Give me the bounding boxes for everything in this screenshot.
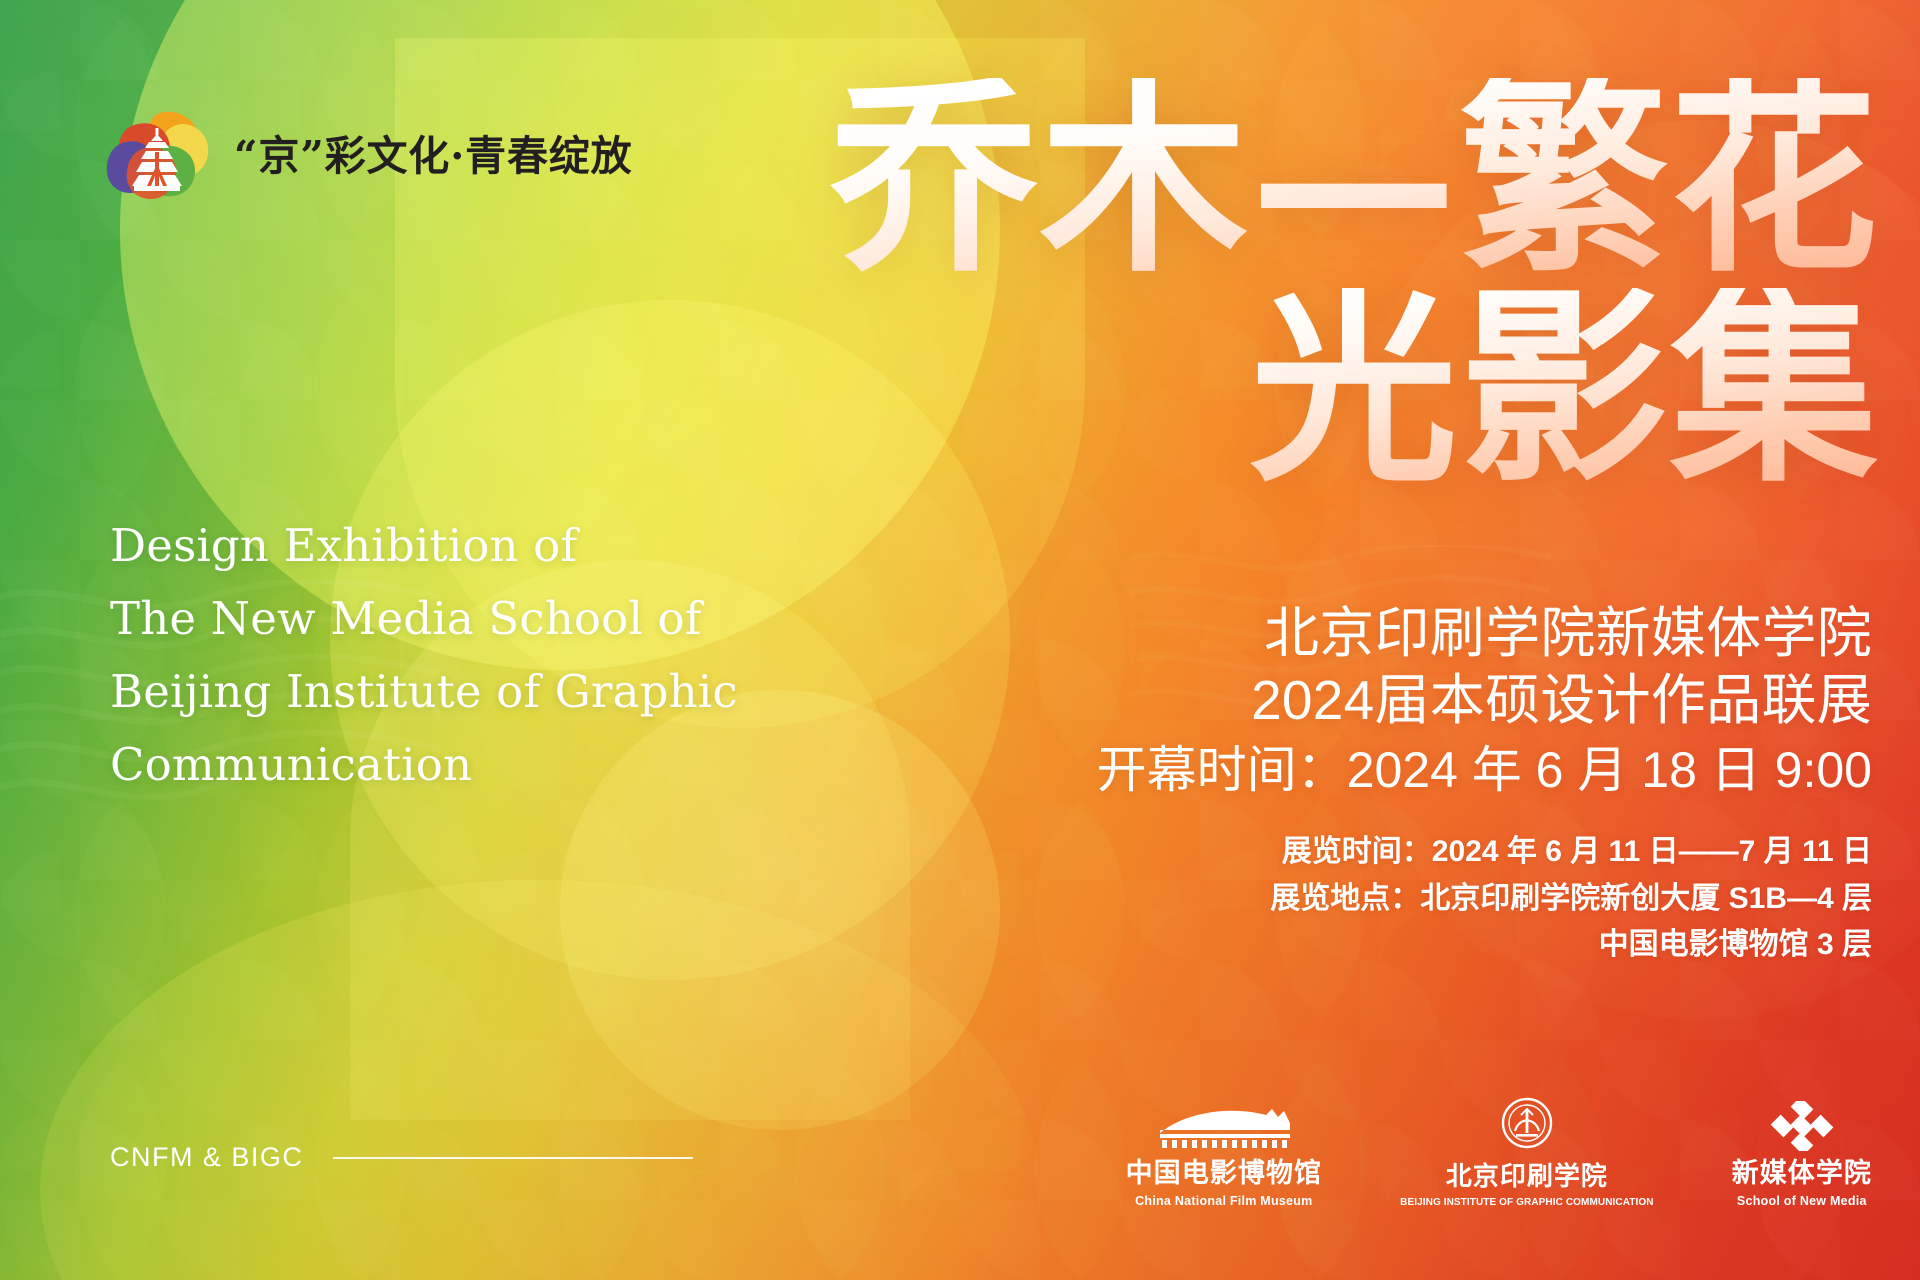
logo-snm-cn-label: 新媒体学院 [1732,1159,1872,1189]
logo-school-of-new-media: 新媒体学院 School of New Media [1732,1101,1872,1208]
logo-cnfm-en-label: China National Film Museum [1135,1194,1312,1208]
english-title-line-2: The New Media School of [110,583,738,656]
brand-slogan: “京”彩文化·青春绽放 [234,136,632,177]
logo-bigc-en-label: BEIJING INSTITUTE OF GRAPHIC COMMUNICATI… [1400,1197,1653,1208]
title-line-2: 光影集 [830,288,1880,492]
china-national-film-museum-icon [1154,1107,1294,1151]
partner-logos: 中国电影博物馆 China National Film Museum 北京印刷学… [1126,1097,1872,1208]
logo-bigc-cn-label: 北京印刷学院 [1446,1163,1608,1192]
english-title-block: Design Exhibition of The New Media Schoo… [110,510,738,802]
brand-lockup: “京”彩文化·青春绽放 [102,108,632,204]
bigc-seal-icon [1499,1097,1555,1155]
footer-credit: CNFM & BIGC [110,1142,693,1173]
exhibition-dates: 展览时间：2024 年 6 月 11 日——7 月 11 日 [1097,829,1872,876]
english-title-line-4: Communication [110,729,738,802]
exhibition-poster: “京”彩文化·青春绽放 乔木—繁花 光影集 北京印刷学院新媒体学院 2024届本… [0,0,1920,1280]
english-title-line-3: Beijing Institute of Graphic [110,656,738,729]
exhibition-venue-1: 展览地点：北京印刷学院新创大厦 S1B—4 层 [1097,876,1872,923]
opening-time: 开幕时间：2024 年 6 月 18 日 9:00 [1097,738,1872,803]
footer-divider [333,1157,693,1159]
title-line-1: 乔木—繁花 [830,78,1880,282]
logo-snm-en-label: School of New Media [1737,1194,1867,1208]
logo-beijing-institute-of-graphic-communication: 北京印刷学院 BEIJING INSTITUTE OF GRAPHIC COMM… [1400,1097,1653,1208]
english-title-line-1: Design Exhibition of [110,510,738,583]
logo-china-national-film-museum: 中国电影博物馆 China National Film Museum [1126,1107,1323,1208]
footer-credit-label: CNFM & BIGC [110,1142,303,1173]
school-of-new-media-diamond-icon [1765,1101,1839,1151]
poster-title: 乔木—繁花 光影集 [830,78,1880,492]
chinese-info-block: 北京印刷学院新媒体学院 2024届本硕设计作品联展 开幕时间：2024 年 6 … [1097,600,1872,969]
beijing-culture-flower-pagoda-logo-icon [102,108,212,204]
logo-cnfm-cn-label: 中国电影博物馆 [1126,1159,1323,1189]
organizer-line: 北京印刷学院新媒体学院 [1097,600,1872,667]
exhibition-venue-2: 中国电影博物馆 3 层 [1097,922,1872,969]
exhibition-subtitle: 2024届本硕设计作品联展 [1097,667,1872,734]
